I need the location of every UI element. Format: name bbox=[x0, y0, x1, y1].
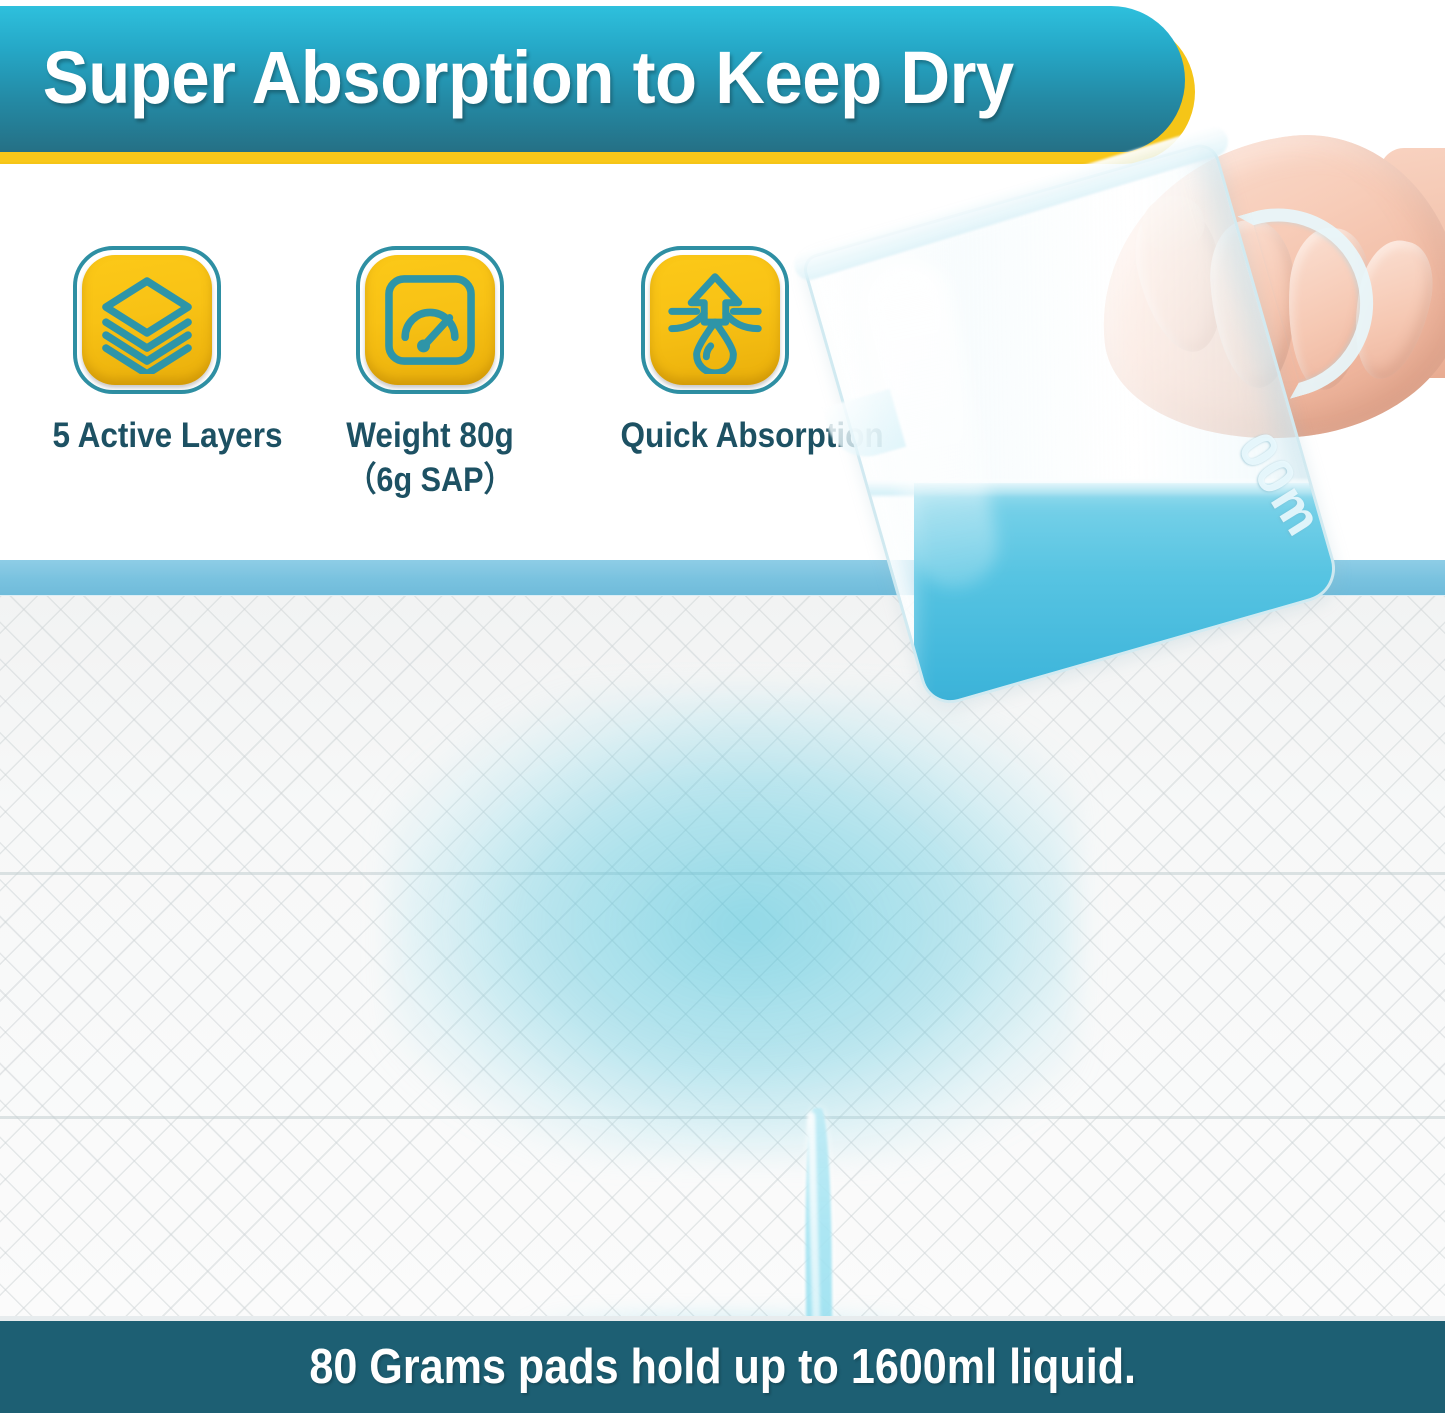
feature-item-layers: 5 Active Layers bbox=[42, 246, 252, 459]
feature-item-absorption: Quick Absorption bbox=[610, 246, 820, 459]
feature-label-absorption: Quick Absorption bbox=[621, 414, 810, 459]
feature-icon-frame bbox=[356, 246, 504, 394]
footer-caption: 80 Grams pads hold up to 1600ml liquid. bbox=[309, 1343, 1136, 1392]
page-title: Super Absorption to Keep Dry bbox=[0, 41, 1014, 115]
feature-label-weight-main: Weight 80g bbox=[346, 416, 513, 455]
hand-holding-beaker: 00m bbox=[860, 148, 1445, 788]
footer-banner: 80 Grams pads hold up to 1600ml liquid. bbox=[0, 1321, 1445, 1413]
feature-label-weight-sub: （6g SAP） bbox=[336, 459, 525, 503]
measuring-beaker: 00m bbox=[800, 129, 1390, 739]
feature-label-layers: 5 Active Layers bbox=[53, 414, 242, 459]
weight-gauge-icon bbox=[365, 255, 495, 385]
feature-list: 5 Active Layers Weight 80g （6g SAP） bbox=[0, 246, 900, 546]
feature-icon-frame bbox=[73, 246, 221, 394]
layers-stack-icon bbox=[82, 255, 212, 385]
quick-absorption-icon bbox=[650, 255, 780, 385]
header-banner: Super Absorption to Keep Dry bbox=[0, 6, 1210, 164]
feature-icon-frame bbox=[641, 246, 789, 394]
feature-item-weight: Weight 80g （6g SAP） bbox=[325, 246, 535, 502]
feature-label-weight: Weight 80g （6g SAP） bbox=[336, 414, 525, 502]
product-feature-graphic: Super Absorption to Keep Dry 5 Active La… bbox=[0, 0, 1445, 1413]
header-banner-body: Super Absorption to Keep Dry bbox=[0, 6, 1185, 154]
